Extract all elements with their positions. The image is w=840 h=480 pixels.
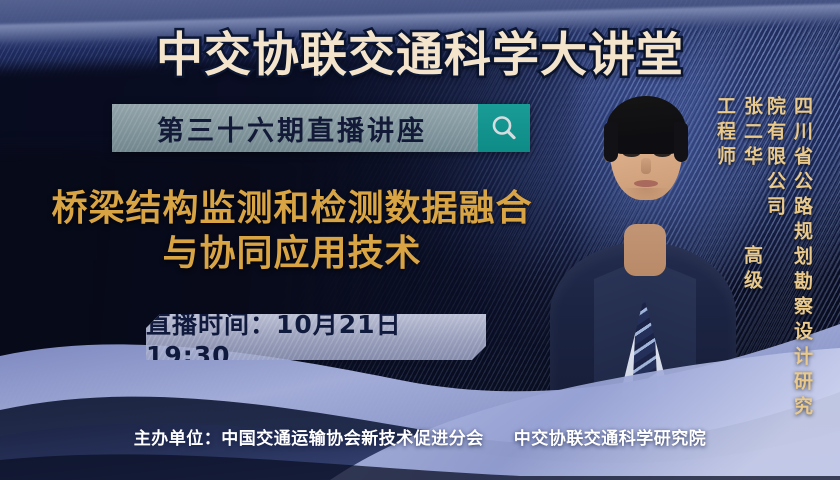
portrait-hair-right — [674, 122, 688, 162]
speaker-name-title-vertical: 张二华 高级工程师 — [712, 96, 766, 306]
headline-line-1: 桥梁结构监测和检测数据融合 — [51, 188, 532, 229]
organizers-footer: 主办单位：中国交通运输协会新技术促进分会中交协联交通科学研究院 — [0, 424, 840, 449]
footer-organizer-2: 中交协联交通科学研究院 — [514, 429, 707, 449]
headline-line-2: 与协同应用技术 — [26, 231, 558, 276]
footer-prefix: 主办单位： — [134, 429, 222, 449]
speaker-organization-vertical: 四川省公路规划勘察设计研究院有限公司 — [762, 96, 816, 436]
portrait-hair-left — [604, 122, 618, 162]
broadcast-time-badge: 直播时间：10月21日19:30 — [146, 314, 486, 360]
search-icon-box[interactable] — [478, 104, 530, 152]
footer-organizer-1: 中国交通运输协会新技术促进分会 — [221, 429, 484, 449]
search-icon — [489, 113, 519, 143]
lecture-headline: 桥梁结构监测和检测数据融合 与协同应用技术 — [26, 186, 558, 277]
series-banner: 第三十六期直播讲座 — [112, 104, 530, 152]
portrait-nose — [641, 158, 651, 174]
portrait-mouth — [634, 180, 658, 187]
series-label: 第三十六期直播讲座 — [112, 104, 478, 152]
speaker-name: 张二华 — [741, 96, 763, 171]
poster-main-title: 中交协联交通科学大讲堂 — [130, 16, 710, 85]
portrait-chin-shadow — [622, 188, 670, 204]
promo-poster: 中交协联交通科学大讲堂 第三十六期直播讲座 桥梁结构监测和检测数据融合 与协同应… — [0, 0, 840, 480]
